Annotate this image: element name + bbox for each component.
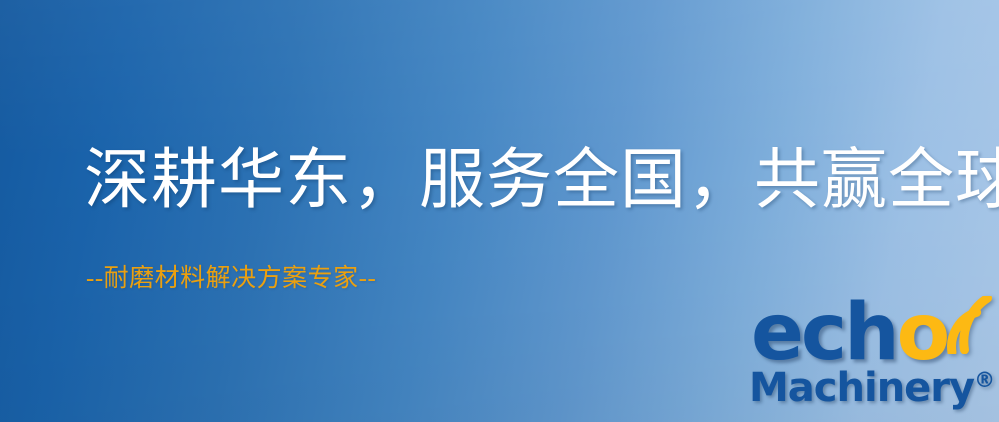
logo-tagline: Machinery® (749, 368, 995, 408)
logo-tagline-text: Machinery (749, 365, 974, 411)
echo-machinery-logo[interactable]: echo Machinery® (745, 298, 999, 422)
echo-wave-icon (935, 296, 997, 354)
logo-wordmark: echo (751, 294, 947, 372)
registered-trademark-icon: ® (974, 368, 995, 392)
hero-banner: 深耕华东，服务全国，共赢全球 --耐磨材料解决方案专家-- echo Machi… (0, 0, 999, 422)
banner-headline: 深耕华东，服务全国，共赢全球 (84, 148, 999, 214)
banner-subtitle: --耐磨材料解决方案专家-- (86, 266, 376, 291)
